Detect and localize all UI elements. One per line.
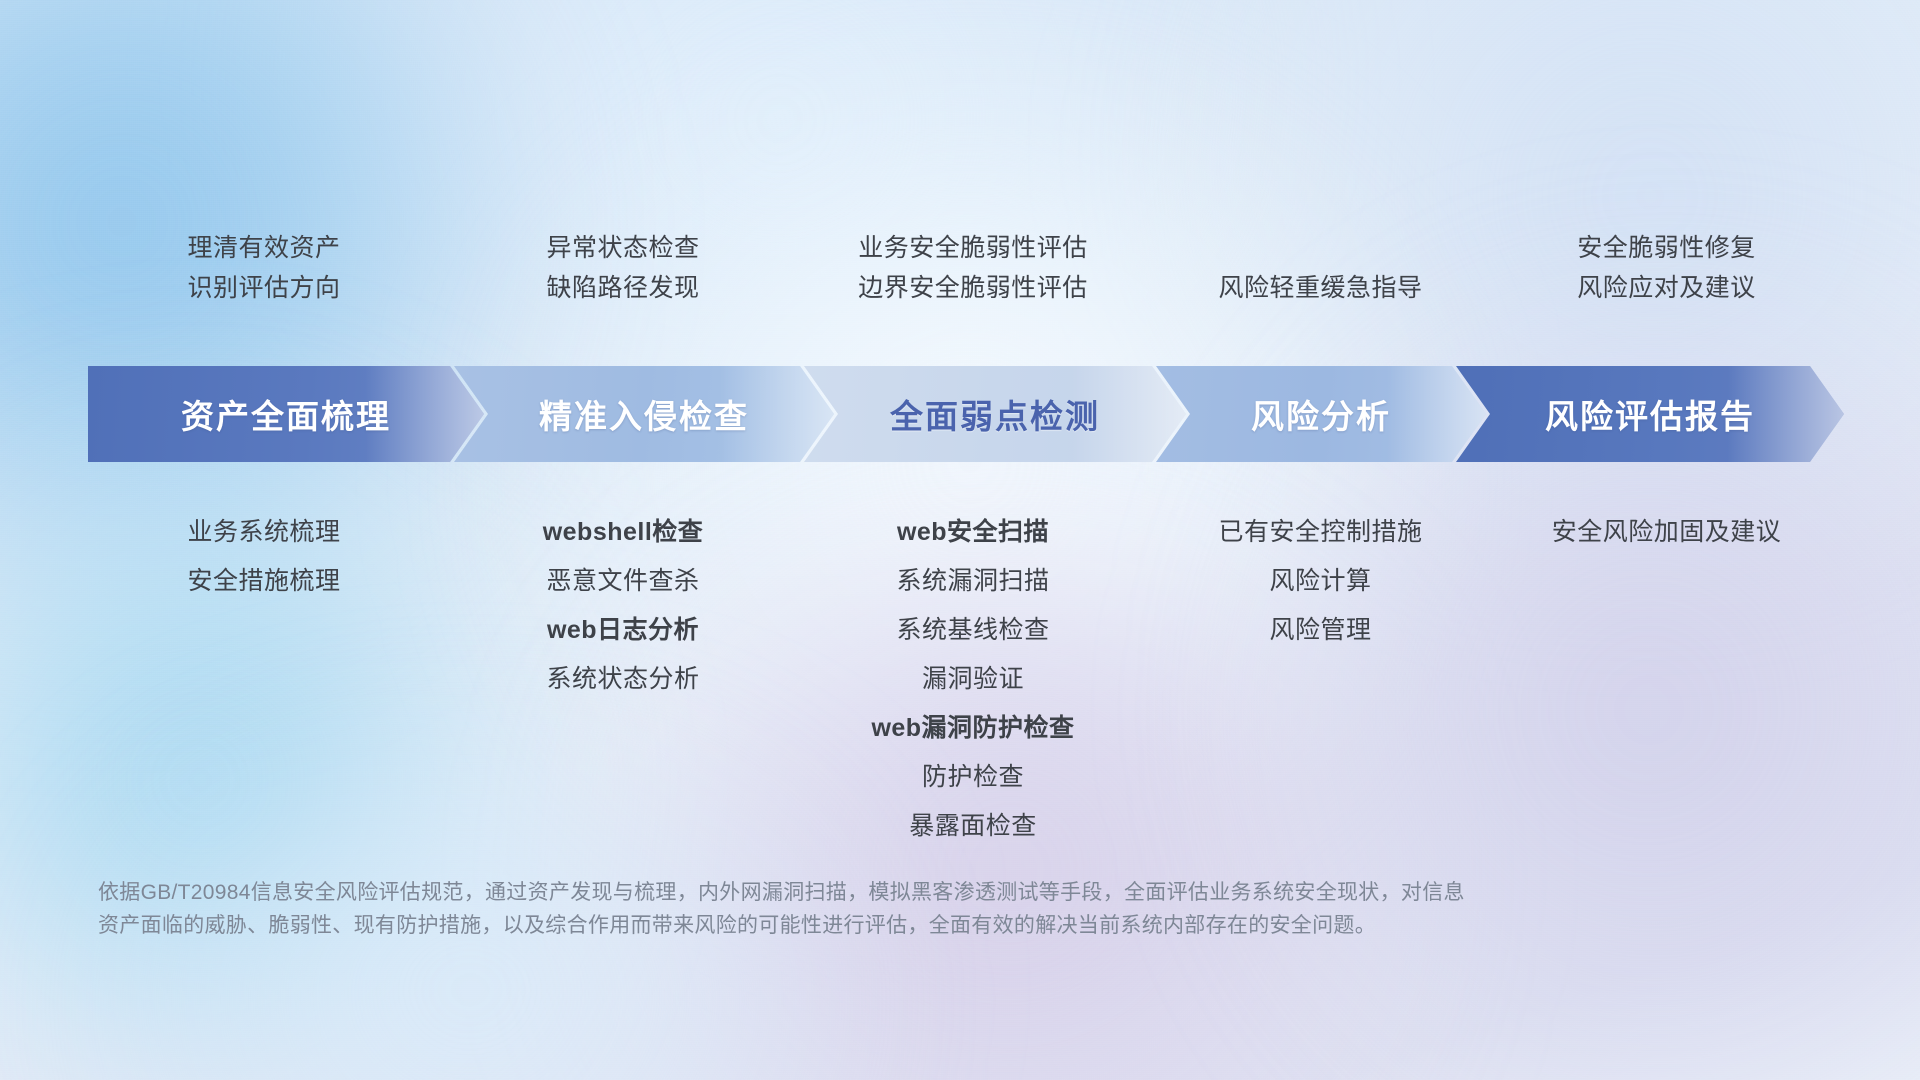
process-arrow-banner: 资产全面梳理 精准入侵检查 全面弱点检测 风险分析 风险评估报告: [88, 366, 1844, 462]
bottom-caption: 已有安全控制措施: [1148, 508, 1493, 557]
bottom-caption: 恶意文件查杀: [448, 557, 798, 606]
stage-arrow-label: 风险分析: [1251, 390, 1391, 438]
top-captions-risk-report: 安全脆弱性修复 风险应对及建议: [1493, 228, 1840, 308]
top-captions-risk-analysis: 风险轻重缓急指导: [1148, 228, 1493, 308]
top-caption: 缺陷路径发现: [448, 268, 798, 308]
bottom-caption: web安全扫描: [798, 508, 1148, 557]
bottom-caption: 漏洞验证: [798, 655, 1148, 704]
footer-description: 依据GB/T20984信息安全风险评估规范，通过资产发现与梳理，内外网漏洞扫描，…: [98, 876, 1698, 942]
bottom-caption: web日志分析: [448, 606, 798, 655]
top-captions-row: 理清有效资产 识别评估方向 异常状态检查 缺陷路径发现 业务安全脆弱性评估 边界…: [80, 228, 1840, 308]
footer-line-1: 依据GB/T20984信息安全风险评估规范，通过资产发现与梳理，内外网漏洞扫描，…: [98, 876, 1698, 909]
top-caption: 边界安全脆弱性评估: [798, 268, 1148, 308]
bottom-caption: webshell检查: [448, 508, 798, 557]
stage-arrow-risk-analysis[interactable]: 风险分析: [1156, 366, 1486, 462]
top-caption: 理清有效资产: [80, 228, 448, 268]
top-caption: 业务安全脆弱性评估: [798, 228, 1148, 268]
stage-arrow-asset-inventory[interactable]: 资产全面梳理: [88, 366, 484, 462]
bottom-caption: 风险计算: [1148, 557, 1493, 606]
bottom-caption: 系统漏洞扫描: [798, 557, 1148, 606]
bottom-caption: web漏洞防护检查: [798, 704, 1148, 753]
bottom-captions-asset-inventory: 业务系统梳理 安全措施梳理: [80, 508, 448, 606]
stage-arrow-label: 精准入侵检查: [539, 390, 749, 438]
bottom-captions-weakness-detection: web安全扫描 系统漏洞扫描 系统基线检查 漏洞验证 web漏洞防护检查 防护检…: [798, 508, 1148, 851]
stage-arrow-label: 全面弱点检测: [890, 390, 1100, 438]
stage-arrow-label: 资产全面梳理: [181, 390, 391, 438]
footer-line-2: 资产面临的威胁、脆弱性、现有防护措施，以及综合作用而带来风险的可能性进行评估，全…: [98, 909, 1698, 942]
stage-arrow-label: 风险评估报告: [1545, 390, 1755, 438]
stage-arrow-intrusion-check[interactable]: 精准入侵检查: [454, 366, 834, 462]
top-captions-asset-inventory: 理清有效资产 识别评估方向: [80, 228, 448, 308]
bottom-caption: 风险管理: [1148, 606, 1493, 655]
bottom-caption: 系统状态分析: [448, 655, 798, 704]
top-caption: 异常状态检查: [448, 228, 798, 268]
stage-arrow-weakness-detection[interactable]: 全面弱点检测: [804, 366, 1186, 462]
bottom-caption: 防护检查: [798, 753, 1148, 802]
bottom-captions-risk-report: 安全风险加固及建议: [1493, 508, 1840, 557]
top-caption: 风险应对及建议: [1493, 268, 1840, 308]
slide-canvas: 理清有效资产 识别评估方向 异常状态检查 缺陷路径发现 业务安全脆弱性评估 边界…: [0, 0, 1920, 1080]
top-caption: 识别评估方向: [80, 268, 448, 308]
stage-arrow-risk-report[interactable]: 风险评估报告: [1456, 366, 1844, 462]
bottom-caption: 安全措施梳理: [80, 557, 448, 606]
bottom-captions-row: 业务系统梳理 安全措施梳理 webshell检查 恶意文件查杀 web日志分析 …: [80, 508, 1840, 851]
bottom-caption: 系统基线检查: [798, 606, 1148, 655]
bottom-caption: 安全风险加固及建议: [1493, 508, 1840, 557]
bottom-caption: 暴露面检查: [798, 802, 1148, 851]
top-captions-intrusion-check: 异常状态检查 缺陷路径发现: [448, 228, 798, 308]
top-caption: 风险轻重缓急指导: [1148, 268, 1493, 308]
bottom-caption: 业务系统梳理: [80, 508, 448, 557]
bottom-captions-risk-analysis: 已有安全控制措施 风险计算 风险管理: [1148, 508, 1493, 655]
top-captions-weakness-detection: 业务安全脆弱性评估 边界安全脆弱性评估: [798, 228, 1148, 308]
diagram-content: 理清有效资产 识别评估方向 异常状态检查 缺陷路径发现 业务安全脆弱性评估 边界…: [0, 0, 1920, 1080]
bottom-captions-intrusion-check: webshell检查 恶意文件查杀 web日志分析 系统状态分析: [448, 508, 798, 704]
top-caption: 安全脆弱性修复: [1493, 228, 1840, 268]
